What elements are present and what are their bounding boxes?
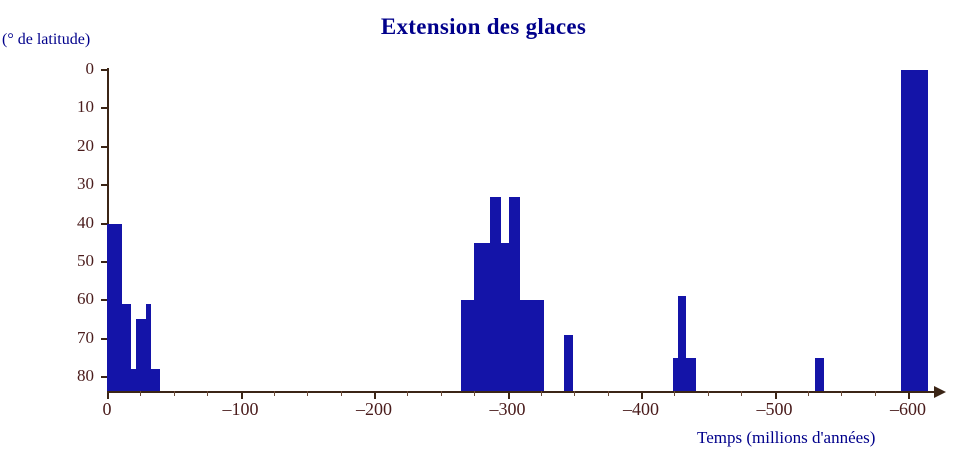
y-tick-label: 70 — [58, 328, 94, 348]
x-tick-label: –400 — [606, 399, 676, 420]
x-tick-minor — [274, 391, 275, 396]
x-tick-minor — [140, 391, 141, 396]
bar — [474, 243, 490, 391]
y-tick-label: 30 — [58, 174, 94, 194]
x-tick-minor — [441, 391, 442, 396]
x-tick-minor — [474, 391, 475, 396]
x-tick-minor — [608, 391, 609, 396]
x-tick-label: –500 — [740, 399, 810, 420]
bar — [151, 369, 160, 391]
x-tick--400 — [641, 391, 643, 399]
y-tick-label: 40 — [58, 213, 94, 233]
y-tick-label: 80 — [58, 366, 94, 386]
x-tick-minor — [574, 391, 575, 396]
chart-figure: Extension des glaces (° de latitude) Tem… — [0, 0, 967, 456]
y-tick-label: 10 — [58, 97, 94, 117]
x-tick-minor — [407, 391, 408, 396]
bar — [564, 335, 573, 391]
bar — [673, 358, 696, 391]
x-tick--600 — [908, 391, 910, 399]
bar — [532, 300, 544, 391]
x-tick-minor — [875, 391, 876, 396]
x-tick-label: –200 — [339, 399, 409, 420]
x-tick-minor — [741, 391, 742, 396]
x-tick-minor — [674, 391, 675, 396]
x-tick-label: –600 — [873, 399, 943, 420]
x-tick-label: –300 — [473, 399, 543, 420]
x-tick-minor — [207, 391, 208, 396]
y-tick-label: 50 — [58, 251, 94, 271]
x-axis-arrow-icon — [934, 386, 946, 398]
y-tick-label: 0 — [58, 59, 94, 79]
bar — [901, 70, 928, 391]
x-tick-label: –100 — [206, 399, 276, 420]
x-tick-minor — [307, 391, 308, 396]
y-tick-0 — [101, 69, 108, 71]
bar — [490, 197, 501, 391]
x-tick--500 — [775, 391, 777, 399]
y-tick-label: 20 — [58, 136, 94, 156]
bar — [509, 197, 520, 391]
x-tick-minor — [841, 391, 842, 396]
bar — [136, 319, 145, 391]
x-tick--200 — [374, 391, 376, 399]
bar — [107, 224, 122, 392]
y-tick-10 — [101, 107, 108, 109]
x-tick-minor — [341, 391, 342, 396]
bar — [520, 300, 532, 391]
x-tick-minor — [541, 391, 542, 396]
bar — [815, 358, 824, 391]
x-tick--100 — [241, 391, 243, 399]
x-tick-0 — [107, 391, 109, 399]
y-tick-label: 60 — [58, 289, 94, 309]
x-tick-minor — [708, 391, 709, 396]
x-axis-line — [107, 391, 937, 393]
y-tick-30 — [101, 184, 108, 186]
x-tick--300 — [508, 391, 510, 399]
x-tick-label: 0 — [72, 399, 142, 420]
y-tick-20 — [101, 146, 108, 148]
bar — [501, 243, 509, 391]
x-tick-minor — [174, 391, 175, 396]
bar — [461, 300, 474, 391]
x-tick-minor — [808, 391, 809, 396]
plot-area: 01020304050607080 0–100–200–300–400–500–… — [0, 0, 967, 456]
